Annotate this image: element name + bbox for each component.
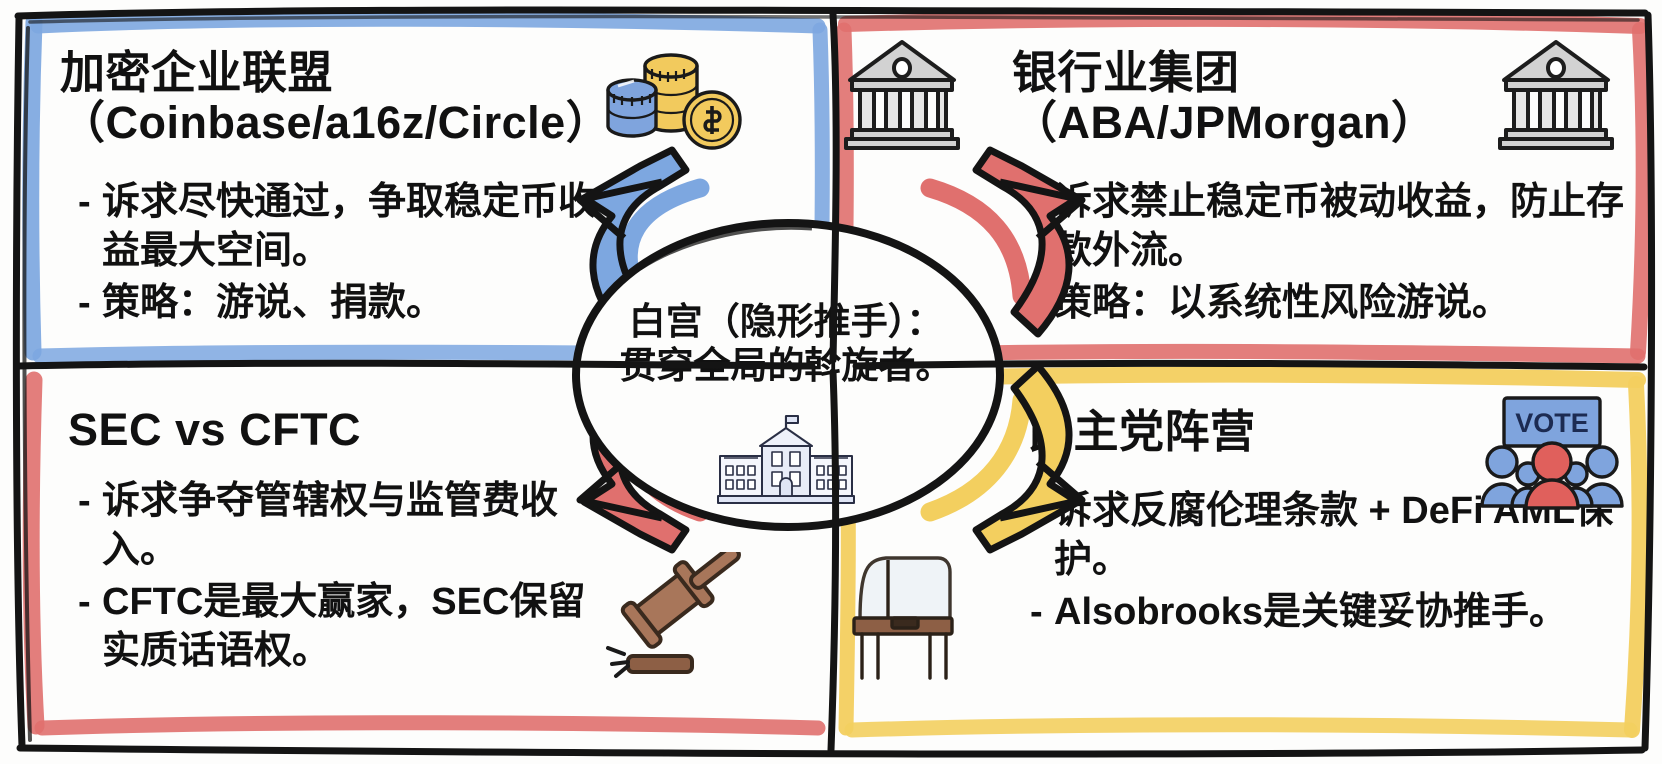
quadrant-bullets-banking: 诉求禁止稳定币被动收益，防止存款外流。 策略：以系统性风险游说。: [1028, 178, 1628, 330]
bullet-item: 诉求争夺管辖权与监管费收入。: [76, 477, 596, 576]
vote-icon: VOTE: [1478, 392, 1628, 510]
white-house-icon: [716, 410, 856, 506]
bullet-item: 诉求禁止稳定币被动收益，防止存款外流。: [1028, 178, 1628, 277]
bullet-item: 策略：游说、捐款。: [76, 279, 596, 328]
gavel-icon: [600, 552, 760, 682]
svg-text:VOTE: VOTE: [1515, 408, 1589, 438]
infographic-canvas: 加密企业联盟 （Coinbase/a16z/Circle） 诉求尽快通过，争取稳…: [0, 0, 1662, 764]
bullet-item: CFTC是最大赢家，SEC保留实质话语权。: [76, 578, 596, 677]
quadrant-title-democrats: 民主党阵营: [1028, 407, 1256, 457]
quadrant-title-banking: 银行业集团 （ABA/JPMorgan）: [1012, 48, 1437, 149]
bullet-item: 策略：以系统性风险游说。: [1028, 279, 1628, 328]
quadrant-bullets-sec-cftc: 诉求争夺管辖权与监管费收入。 CFTC是最大赢家，SEC保留实质话语权。: [76, 477, 596, 679]
quadrant-title-crypto: 加密企业联盟 （Coinbase/a16z/Circle）: [60, 48, 611, 149]
bank-icon: [1496, 32, 1616, 152]
quadrant-title-sec-cftc: SEC vs CFTC: [68, 405, 361, 455]
coins-icon: [600, 28, 750, 156]
bullet-item: 诉求尽快通过，争取稳定币收益最大空间。: [76, 178, 596, 277]
bullet-item: Alsobrooks是关键妥协推手。: [1028, 588, 1648, 637]
center-hub-text: 白宫（隐形推手）： 贯穿全局的斡旋者。: [600, 300, 972, 389]
ballot-box-icon: [838, 546, 964, 682]
center-hub: 白宫（隐形推手）： 贯穿全局的斡旋者。: [576, 222, 996, 528]
bank-icon: [842, 32, 962, 152]
quadrant-bullets-crypto: 诉求尽快通过，争取稳定币收益最大空间。 策略：游说、捐款。: [76, 178, 596, 330]
